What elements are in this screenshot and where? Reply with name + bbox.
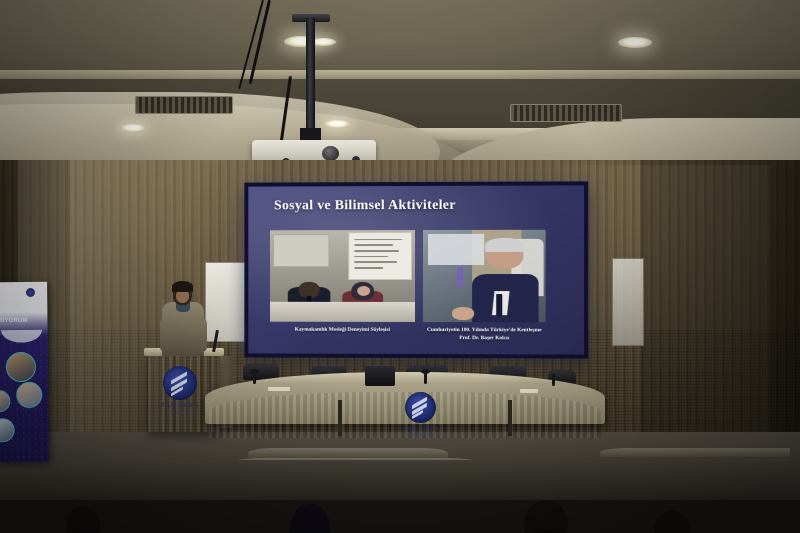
projector-pole [306,18,315,133]
podium-logo-subtitle: ÜNİVERSİTESİ [152,410,208,415]
slide-photo-right [423,230,546,323]
speaker-arm [160,318,170,352]
slide-title: Sosyal ve Bilimsel Aktiviteler [274,198,456,214]
whiteboard [612,258,644,346]
audience-head [654,510,690,533]
slide-caption-left: Kaymakamlık Mesleği Deneyimi Söyleşisi [270,326,415,335]
ceiling-upper-band [0,0,800,72]
auditorium-scene: Sosyal ve Bilimsel Aktiviteler [0,0,800,533]
slide-photo-left [270,230,415,322]
speaker-hair [172,281,193,292]
slide-caption-right: Cumhuriyetin 100. Yılında Türkiye'de Ken… [423,326,546,343]
sakarya-logo-icon [163,366,197,400]
banner-headline: CEĞİME YÖN RİYORUM [0,308,48,325]
stage-laptop[interactable] [365,366,395,386]
banner-headline-line2: RİYORUM [0,317,48,326]
audience-head [290,504,330,533]
desk-microphone-head [250,369,259,374]
projector-lens-icon [322,146,339,161]
wall-shadow-right [640,160,800,460]
slide-surface: Sosyal ve Bilimsel Aktiviteler [248,185,584,354]
podium-logo-title: SAKARYA [152,402,208,409]
banner-headline-line1: CEĞİME YÖN [0,308,48,317]
speaker-arm [197,318,207,352]
audience-head [66,506,100,533]
desk-microphone [552,374,555,386]
ceiling-light [324,120,350,128]
projection-screen: Sosyal ve Bilimsel Aktiviteler [244,181,588,358]
desk-microphone-head [421,369,430,374]
air-vent [510,104,622,122]
ceiling-light [120,124,146,132]
banner-logo-icon [26,288,35,297]
desk-paper [268,387,290,391]
ceiling-light [618,37,652,48]
banner-photo-bubble [16,382,42,408]
banner-photo-bubble [6,352,36,382]
audience-head [524,500,568,533]
air-vent [135,96,233,114]
audience-area [0,418,800,533]
desk-paper [520,389,538,393]
